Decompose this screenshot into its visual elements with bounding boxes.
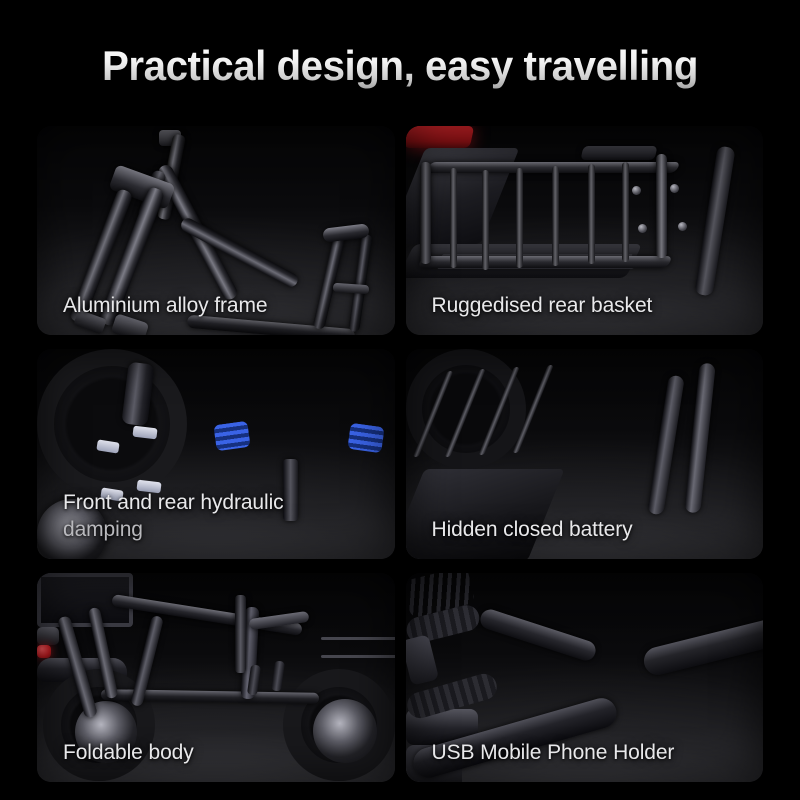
feature-caption: Ruggedised rear basket: [432, 292, 746, 319]
feature-caption-line1: Hidden closed battery: [432, 518, 633, 541]
feature-card-ruggedised-rear-basket[interactable]: Ruggedised rear basket: [406, 126, 764, 335]
feature-card-usb-phone-holder[interactable]: USB Mobile Phone Holder: [406, 573, 764, 782]
feature-card-hydraulic-damping[interactable]: Front and rear hydraulic damping: [37, 349, 395, 558]
red-indicator-icon: [37, 645, 51, 658]
feature-caption: Front and rear hydraulic damping: [63, 489, 377, 543]
page-title: Practical design, easy travelling: [16, 40, 784, 92]
feature-caption: USB Mobile Phone Holder: [432, 739, 746, 766]
feature-caption-line2: damping: [63, 516, 377, 543]
feature-card-aluminium-alloy-frame[interactable]: Aluminium alloy frame: [37, 126, 395, 335]
feature-caption: Foldable body: [63, 739, 377, 766]
feature-caption-line1: Ruggedised rear basket: [432, 294, 653, 317]
feature-caption: Hidden closed battery: [432, 516, 746, 543]
brake-lever-icon: [477, 607, 597, 663]
feature-caption-line1: Foldable body: [63, 741, 194, 764]
feature-card-foldable-body[interactable]: Foldable body: [37, 573, 395, 782]
tail-light-icon: [406, 126, 474, 148]
feature-caption: Aluminium alloy frame: [63, 292, 377, 319]
feature-card-hidden-closed-battery[interactable]: Hidden closed battery: [406, 349, 764, 558]
feature-grid: Aluminium alloy frame: [37, 126, 763, 782]
product-feature-grid-page: Practical design, easy travelling: [0, 0, 800, 800]
feature-caption-line1: Aluminium alloy frame: [63, 294, 267, 317]
feature-caption-line1: Front and rear hydraulic: [63, 491, 284, 514]
feature-caption-line1: USB Mobile Phone Holder: [432, 741, 675, 764]
headlight-icon: [37, 627, 59, 645]
